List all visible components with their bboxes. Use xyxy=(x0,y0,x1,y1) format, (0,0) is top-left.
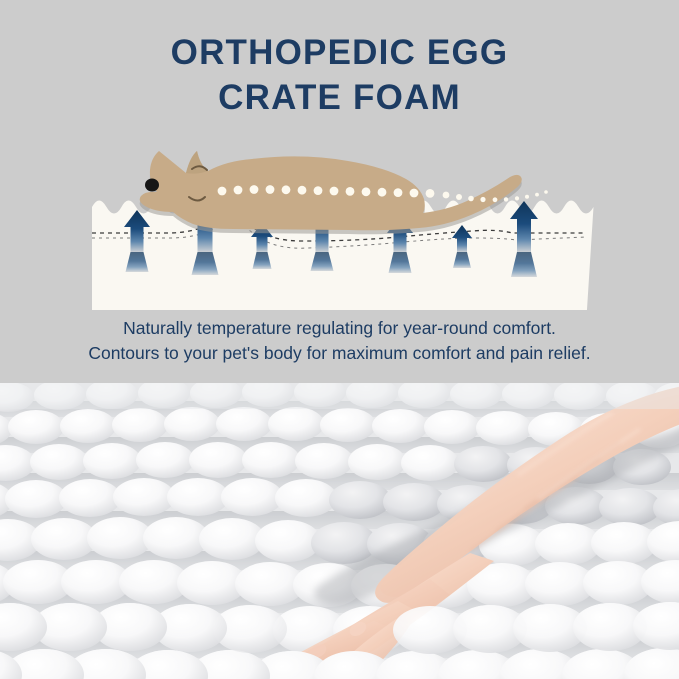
caption-line-1: Naturally temperature regulating for yea… xyxy=(0,316,679,341)
dog-ear xyxy=(186,151,208,174)
caption-line-2: Contours to your pet's body for maximum … xyxy=(0,341,679,366)
headline-line-2: CRATE FOAM xyxy=(0,75,679,120)
top-info-panel: ORTHOPEDIC EGG CRATE FOAM xyxy=(0,0,679,383)
foam-photo-illustration xyxy=(0,383,679,679)
headline-line-1: ORTHOPEDIC EGG xyxy=(171,33,509,72)
egg-crate-foam-photo xyxy=(0,383,679,679)
caption-block: Naturally temperature regulating for yea… xyxy=(0,316,679,366)
dog-on-foam-diagram xyxy=(0,125,679,310)
product-infographic: ORTHOPEDIC EGG CRATE FOAM xyxy=(0,0,679,679)
page-title: ORTHOPEDIC EGG CRATE FOAM xyxy=(0,30,679,120)
dog-nose xyxy=(145,179,159,192)
